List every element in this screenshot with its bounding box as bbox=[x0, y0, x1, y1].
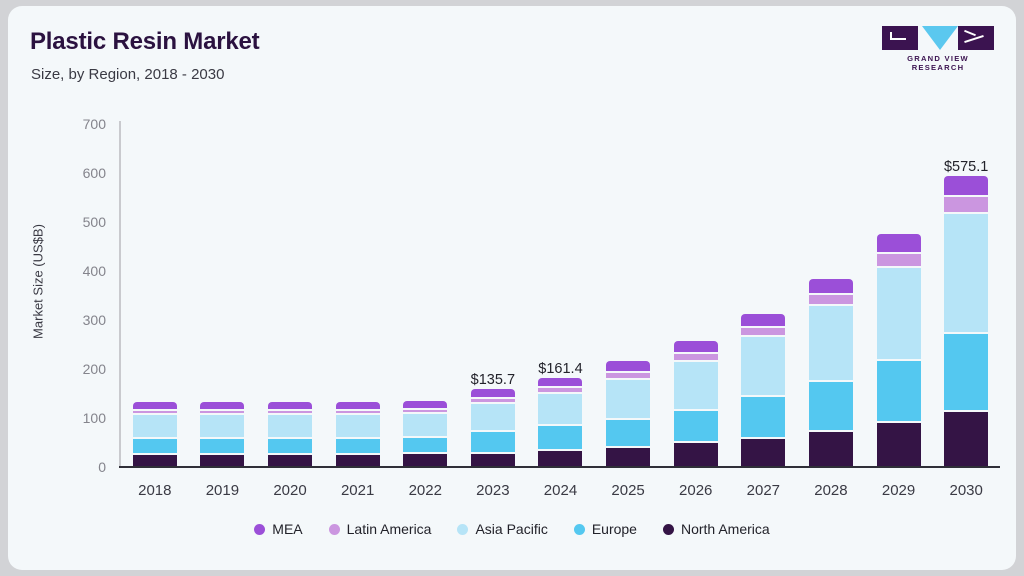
x-axis-tick-label: 2030 bbox=[949, 482, 982, 499]
bar-segment[interactable] bbox=[674, 411, 718, 441]
y-axis-tick-label: 400 bbox=[60, 263, 106, 279]
bar-group[interactable]: $135.72023 bbox=[459, 6, 527, 467]
bar-group[interactable]: 2027 bbox=[730, 6, 798, 467]
y-axis-tick-label: 600 bbox=[60, 165, 106, 181]
bar-segment[interactable] bbox=[133, 411, 177, 413]
bar-segment[interactable] bbox=[674, 354, 718, 360]
bar-segment[interactable] bbox=[336, 415, 380, 436]
bar-segment[interactable] bbox=[674, 443, 718, 466]
bar-segment[interactable] bbox=[268, 402, 312, 409]
bar-value-label: $575.1 bbox=[944, 159, 988, 175]
x-axis-tick-label: 2018 bbox=[138, 482, 171, 499]
bar-segment[interactable] bbox=[336, 402, 380, 409]
bar-segment[interactable] bbox=[200, 455, 244, 466]
bar-group[interactable]: 2028 bbox=[797, 6, 865, 467]
bar-group[interactable]: 2020 bbox=[256, 6, 324, 467]
bar-segment[interactable] bbox=[200, 439, 244, 453]
legend-item[interactable]: MEA bbox=[254, 521, 302, 537]
bar-segment[interactable] bbox=[809, 295, 853, 304]
stacked-bar[interactable] bbox=[741, 314, 785, 466]
bar-segment[interactable] bbox=[403, 454, 447, 466]
legend-dot-icon bbox=[574, 524, 585, 535]
bar-segment[interactable] bbox=[944, 412, 988, 466]
x-axis-tick-label: 2020 bbox=[273, 482, 306, 499]
chart-legend: MEALatin AmericaAsia PacificEuropeNorth … bbox=[8, 521, 1016, 537]
stacked-bar[interactable] bbox=[336, 402, 380, 466]
bar-group[interactable]: 2022 bbox=[391, 6, 459, 467]
legend-dot-icon bbox=[457, 524, 468, 535]
bar-segment[interactable] bbox=[741, 397, 785, 436]
chart-card: Plastic Resin Market Size, by Region, 20… bbox=[8, 6, 1016, 570]
bar-segment[interactable] bbox=[741, 314, 785, 326]
bar-segment[interactable] bbox=[944, 176, 988, 195]
x-axis-tick-label: 2019 bbox=[206, 482, 239, 499]
bar-segment[interactable] bbox=[200, 415, 244, 436]
legend-item[interactable]: Latin America bbox=[329, 521, 432, 537]
bar-segment[interactable] bbox=[944, 214, 988, 333]
x-axis-tick-label: 2029 bbox=[882, 482, 915, 499]
bar-group[interactable]: 2019 bbox=[189, 6, 257, 467]
bar-segment[interactable] bbox=[336, 455, 380, 466]
y-axis-tick-label: 200 bbox=[60, 361, 106, 377]
bar-segment[interactable] bbox=[133, 415, 177, 436]
legend-label: MEA bbox=[272, 521, 302, 537]
bar-segment[interactable] bbox=[674, 362, 718, 410]
x-axis-tick-label: 2025 bbox=[611, 482, 644, 499]
bar-segment[interactable] bbox=[877, 254, 921, 266]
y-axis-tick-label: 500 bbox=[60, 214, 106, 230]
bar-segment[interactable] bbox=[471, 389, 515, 397]
bar-value-label: $161.4 bbox=[538, 361, 582, 377]
bar-segment[interactable] bbox=[471, 454, 515, 466]
bar-segment[interactable] bbox=[471, 404, 515, 430]
bar-group[interactable]: 2018 bbox=[121, 6, 189, 467]
bar-segment[interactable] bbox=[809, 432, 853, 466]
bar-segment[interactable] bbox=[336, 411, 380, 413]
bar-segment[interactable] bbox=[336, 439, 380, 453]
x-axis-tick-label: 2023 bbox=[476, 482, 509, 499]
bar-segment[interactable] bbox=[133, 455, 177, 466]
stacked-bar[interactable] bbox=[133, 402, 177, 466]
bar-segment[interactable] bbox=[877, 423, 921, 466]
y-axis-tick-label: 300 bbox=[60, 312, 106, 328]
stacked-bar[interactable] bbox=[674, 341, 718, 466]
y-axis-label: Market Size (US$B) bbox=[31, 102, 46, 462]
bar-segment[interactable] bbox=[606, 380, 650, 418]
bar-segment[interactable] bbox=[471, 399, 515, 402]
bar-segment[interactable] bbox=[606, 448, 650, 466]
legend-label: Europe bbox=[592, 521, 637, 537]
stacked-bar[interactable] bbox=[471, 389, 515, 466]
bar-group[interactable]: 2025 bbox=[594, 6, 662, 467]
y-axis-ticks: 0100200300400500600700 bbox=[60, 6, 106, 570]
bar-segment[interactable] bbox=[606, 361, 650, 371]
bar-segment[interactable] bbox=[133, 439, 177, 453]
bar-segment[interactable] bbox=[268, 411, 312, 413]
stacked-bar[interactable] bbox=[403, 401, 447, 466]
y-axis-tick-label: 100 bbox=[60, 410, 106, 426]
bar-segment[interactable] bbox=[944, 334, 988, 410]
legend-dot-icon bbox=[329, 524, 340, 535]
bar-segment[interactable] bbox=[403, 438, 447, 453]
stacked-bar[interactable] bbox=[606, 361, 650, 466]
stacked-bar[interactable] bbox=[809, 279, 853, 466]
bar-segment[interactable] bbox=[741, 337, 785, 396]
bar-segment[interactable] bbox=[809, 279, 853, 293]
x-axis-tick-label: 2021 bbox=[341, 482, 374, 499]
bar-segment[interactable] bbox=[403, 414, 447, 436]
bar-segment[interactable] bbox=[944, 197, 988, 212]
x-axis-tick-label: 2024 bbox=[544, 482, 577, 499]
legend-item[interactable]: Asia Pacific bbox=[457, 521, 547, 537]
plot-area: 20182019202020212022$135.72023$161.42024… bbox=[121, 6, 1000, 467]
legend-label: North America bbox=[681, 521, 770, 537]
x-axis-tick-label: 2022 bbox=[409, 482, 442, 499]
bar-segment[interactable] bbox=[268, 439, 312, 453]
legend-label: Latin America bbox=[347, 521, 432, 537]
bar-segment[interactable] bbox=[133, 402, 177, 409]
bar-group[interactable]: 2026 bbox=[662, 6, 730, 467]
bar-segment[interactable] bbox=[741, 439, 785, 466]
bar-segment[interactable] bbox=[538, 378, 582, 386]
stacked-bar[interactable] bbox=[944, 176, 988, 466]
x-axis-tick-label: 2026 bbox=[679, 482, 712, 499]
bar-segment[interactable] bbox=[403, 401, 447, 408]
bar-group[interactable]: $161.42024 bbox=[527, 6, 595, 467]
bar-segment[interactable] bbox=[809, 382, 853, 431]
x-axis-tick-label: 2027 bbox=[747, 482, 780, 499]
bar-segment[interactable] bbox=[877, 234, 921, 252]
stacked-bar[interactable] bbox=[538, 378, 582, 466]
bar-segment[interactable] bbox=[403, 410, 447, 412]
bar-group[interactable]: $575.12030 bbox=[932, 6, 1000, 467]
bar-segment[interactable] bbox=[674, 341, 718, 352]
legend-item[interactable]: North America bbox=[663, 521, 770, 537]
bar-segment[interactable] bbox=[268, 415, 312, 436]
legend-item[interactable]: Europe bbox=[574, 521, 637, 537]
bar-segment[interactable] bbox=[538, 451, 582, 466]
bar-segment[interactable] bbox=[809, 306, 853, 380]
stacked-bar[interactable] bbox=[268, 402, 312, 466]
bar-segment[interactable] bbox=[606, 373, 650, 378]
stacked-bar[interactable] bbox=[877, 234, 921, 466]
stacked-bar[interactable] bbox=[200, 402, 244, 466]
bar-segment[interactable] bbox=[268, 455, 312, 466]
bar-segment[interactable] bbox=[471, 432, 515, 452]
bar-segment[interactable] bbox=[538, 394, 582, 424]
bar-value-label: $135.7 bbox=[471, 372, 515, 388]
legend-dot-icon bbox=[663, 524, 674, 535]
bar-segment[interactable] bbox=[877, 268, 921, 359]
bar-segment[interactable] bbox=[741, 328, 785, 335]
x-axis-tick-label: 2028 bbox=[814, 482, 847, 499]
bar-segment[interactable] bbox=[538, 388, 582, 392]
bar-segment[interactable] bbox=[538, 426, 582, 449]
bar-segment[interactable] bbox=[606, 420, 650, 445]
bar-group[interactable]: 2029 bbox=[865, 6, 933, 467]
bar-segment[interactable] bbox=[877, 361, 921, 421]
y-axis-tick-label: 700 bbox=[60, 116, 106, 132]
y-axis-tick-label: 0 bbox=[60, 459, 106, 475]
bar-group[interactable]: 2021 bbox=[324, 6, 392, 467]
legend-label: Asia Pacific bbox=[475, 521, 547, 537]
legend-dot-icon bbox=[254, 524, 265, 535]
bar-segment[interactable] bbox=[200, 402, 244, 409]
bar-segment[interactable] bbox=[200, 411, 244, 413]
